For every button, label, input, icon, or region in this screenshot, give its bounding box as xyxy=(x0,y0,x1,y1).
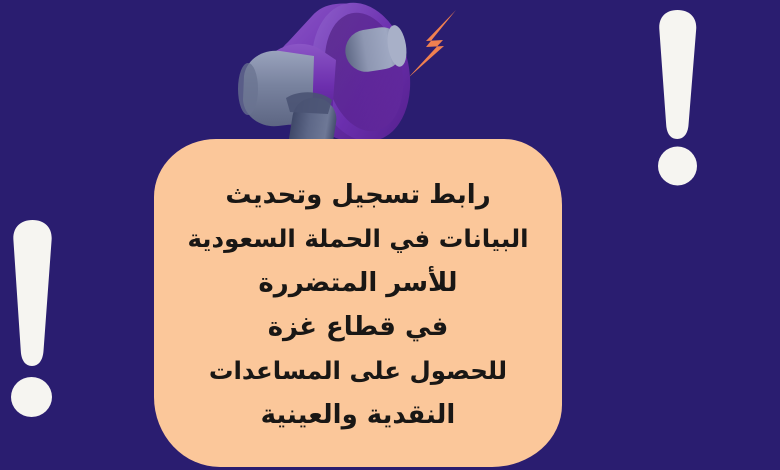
announcement-line-3: للأسر المتضررة xyxy=(154,261,562,305)
announcement-card: رابط تسجيل وتحديث البيانات في الحملة الس… xyxy=(154,139,562,467)
announcement-text: رابط تسجيل وتحديث البيانات في الحملة الس… xyxy=(154,173,562,437)
announcement-line-6: النقدية والعينية xyxy=(154,393,562,437)
megaphone-back-cap xyxy=(238,63,258,115)
announcement-line-4: في قطاع غزة xyxy=(154,305,562,349)
exclamation-mark-icon-right xyxy=(652,8,704,186)
announcement-line-1: رابط تسجيل وتحديث xyxy=(154,173,562,217)
exclamation-right-svg xyxy=(652,8,704,186)
announcement-poster: رابط تسجيل وتحديث البيانات في الحملة الس… xyxy=(0,0,780,470)
announcement-line-2: البيانات في الحملة السعودية xyxy=(154,217,562,261)
exclamation-left-svg xyxy=(8,218,60,418)
exclamation-mark-icon-left xyxy=(8,218,60,418)
announcement-line-5: للحصول على المساعدات xyxy=(154,349,562,393)
